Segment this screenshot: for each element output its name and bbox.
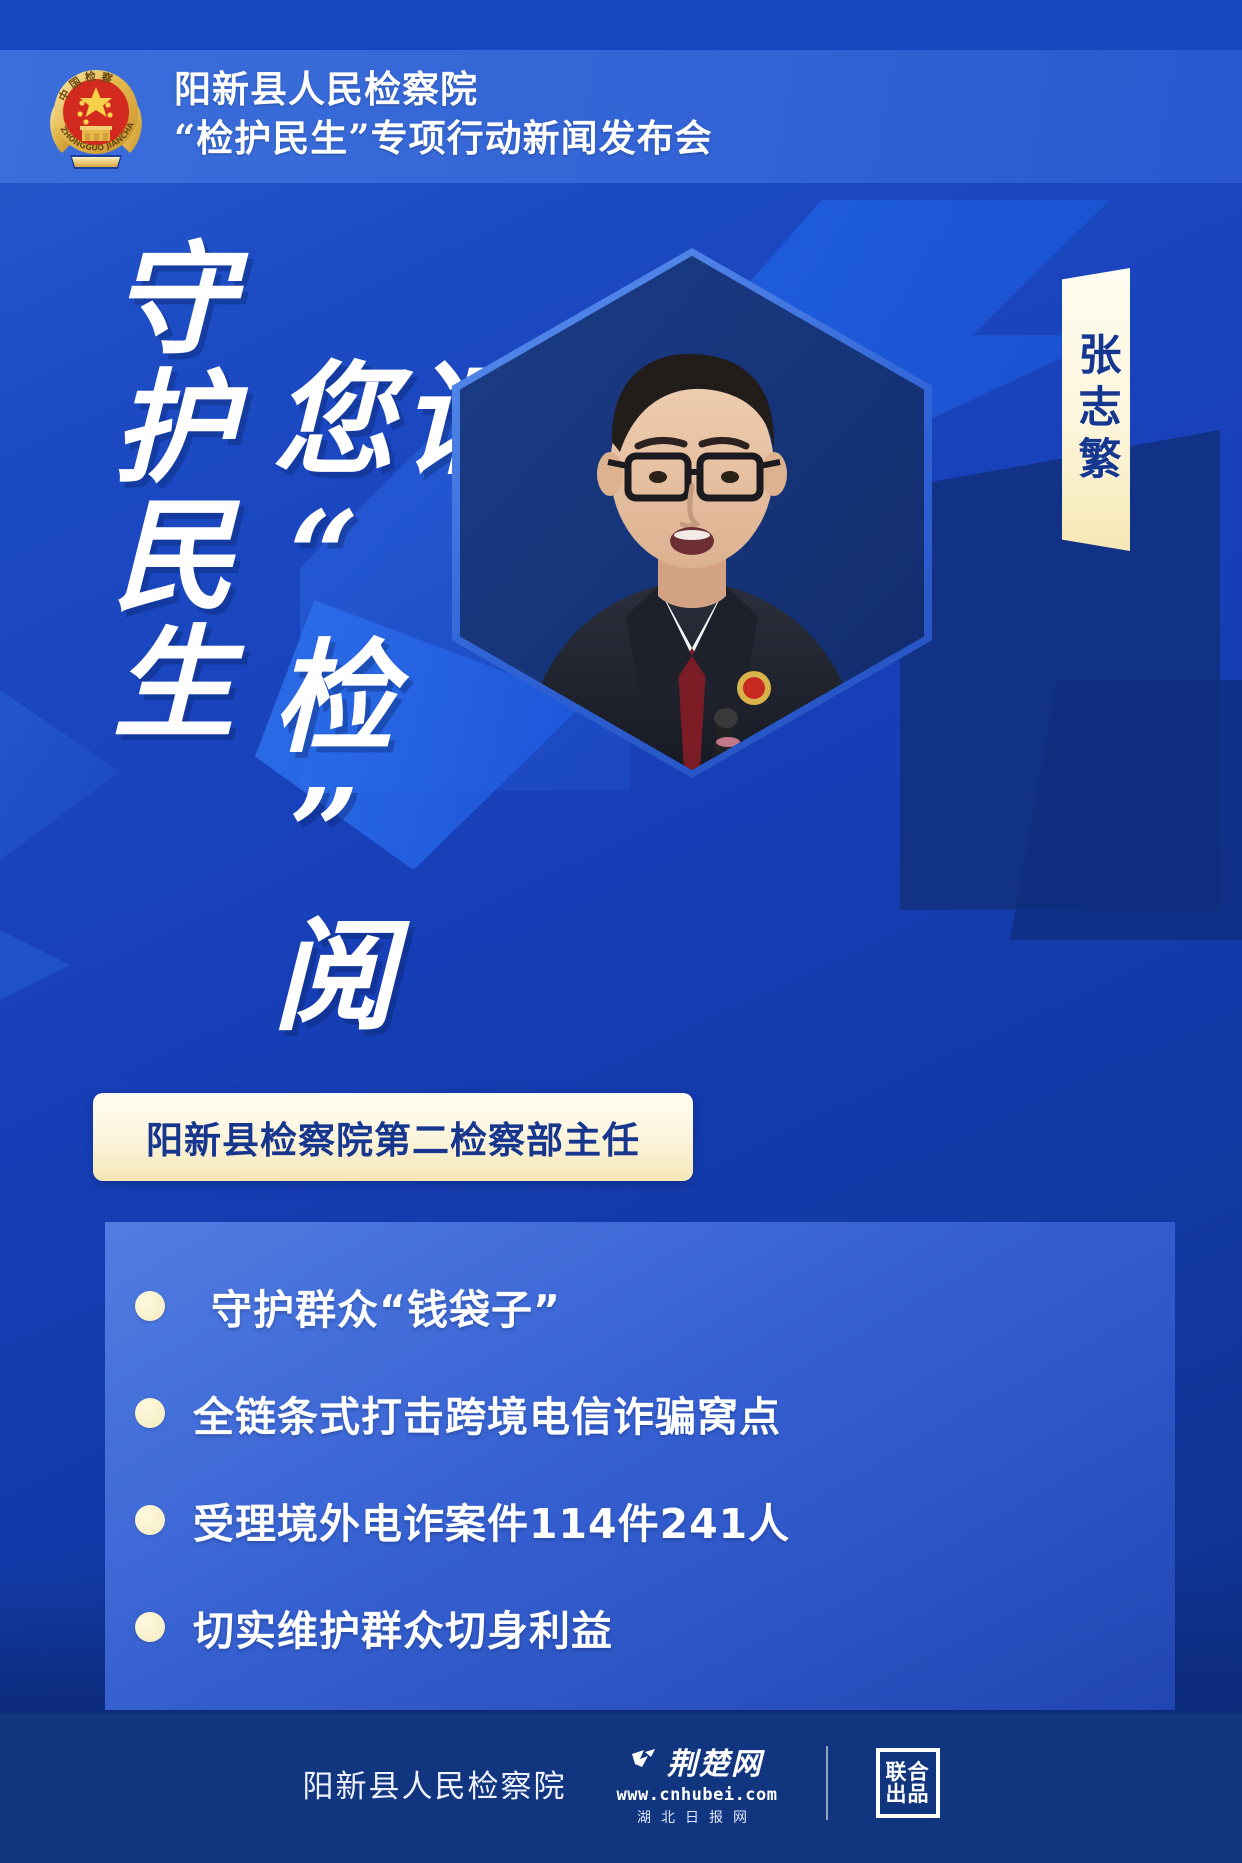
header-line-1: 阳新县人民检察院 <box>174 66 713 113</box>
top-strip <box>0 0 1242 50</box>
footer-content: 阳新县人民检察院 荆楚网 www.cnhubei.com 湖北日报网 联合 出品 <box>302 1739 939 1827</box>
joint-production-stamp: 联合 出品 <box>876 1748 940 1818</box>
list-item-label: 守护群众“钱袋子” <box>211 1276 561 1336</box>
list-item-label: 全链条式打击跨境电信诈骗窝点 <box>193 1383 781 1443</box>
poster-root: 中 国 检 察 ZHONGGUO JIANCHA 阳新县人民检察院 “检护民生”… <box>0 0 1242 1863</box>
speaker-name-ribbon: 张志繁 <box>1062 268 1130 551</box>
highlights-panel: 守护群众“钱袋子” 全链条式打击跨境电信诈骗窝点 受理境外电诈案件114件241… <box>105 1222 1175 1710</box>
main-title: 守护民生 请您“检”阅 <box>90 235 510 1025</box>
stamp-line-2: 出品 <box>886 1783 930 1805</box>
list-item-label: 受理境外电诈案件114件241人 <box>193 1490 790 1550</box>
cnhubei-url: www.cnhubei.com <box>616 1785 777 1805</box>
bullet-dot-icon <box>135 1291 165 1321</box>
poster-footer: 阳新县人民检察院 荆楚网 www.cnhubei.com 湖北日报网 联合 出品 <box>0 1713 1242 1863</box>
list-item: 守护群众“钱袋子” <box>135 1276 1155 1336</box>
list-item-label: 切实维护群众切身利益 <box>193 1597 613 1657</box>
speaker-name: 张志繁 <box>1065 332 1127 488</box>
bullet-dot-icon <box>135 1505 165 1535</box>
list-item: 全链条式打击跨境电信诈骗窝点 <box>135 1383 1155 1443</box>
footer-divider <box>826 1746 828 1820</box>
footer-organization: 阳新县人民检察院 <box>302 1761 566 1806</box>
cnhubei-logo: 荆楚网 www.cnhubei.com 湖北日报网 <box>616 1739 777 1827</box>
list-item: 切实维护群众切身利益 <box>135 1597 1155 1657</box>
poster-header: 中 国 检 察 ZHONGGUO JIANCHA 阳新县人民检察院 “检护民生”… <box>0 50 1242 183</box>
cnhubei-name: 荆楚网 <box>667 1739 763 1783</box>
highlights-list: 守护群众“钱袋子” 全链条式打击跨境电信诈骗窝点 受理境外电诈案件114件241… <box>135 1252 1155 1680</box>
speaker-position-banner: 阳新县检察院第二检察部主任 <box>93 1093 693 1181</box>
bullet-dot-icon <box>135 1612 165 1642</box>
cnhubei-bird-icon <box>631 1748 661 1774</box>
procuratorate-emblem-icon: 中 国 检 察 ZHONGGUO JIANCHA <box>40 57 152 177</box>
cnhubei-mark: 荆楚网 <box>631 1739 763 1783</box>
cnhubei-subtitle: 湖北日报网 <box>637 1807 757 1827</box>
main-title-column-1: 守护民生 <box>100 235 228 747</box>
speaker-position: 阳新县检察院第二检察部主任 <box>146 1110 640 1164</box>
stamp-line-1: 联合 <box>886 1761 930 1783</box>
header-line-2: “检护民生”专项行动新闻发布会 <box>174 113 713 163</box>
header-title-block: 阳新县人民检察院 “检护民生”专项行动新闻发布会 <box>174 66 713 163</box>
bullet-dot-icon <box>135 1398 165 1428</box>
list-item: 受理境外电诈案件114件241人 <box>135 1490 1155 1550</box>
